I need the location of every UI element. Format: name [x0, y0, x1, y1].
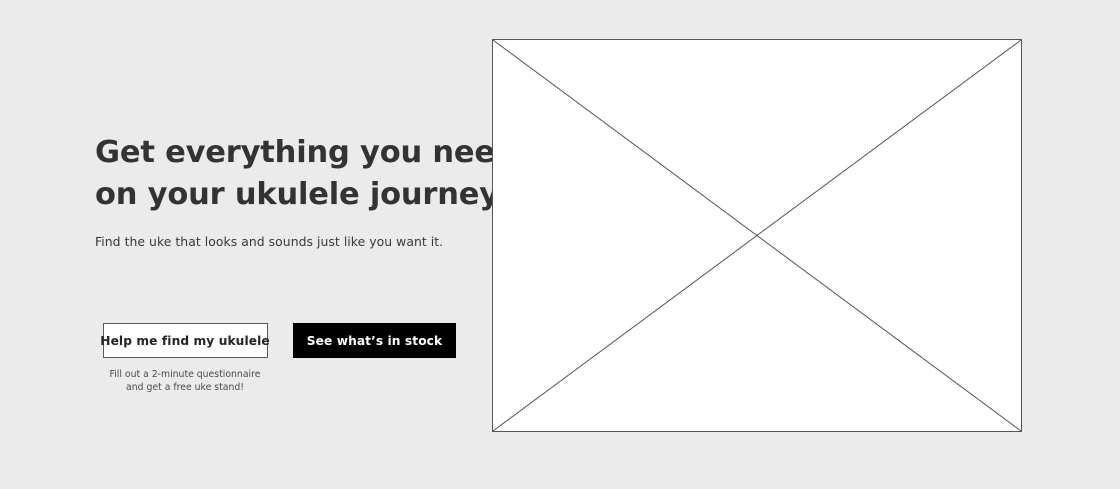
- headline-line-1: Get everything you need to get started: [95, 132, 495, 174]
- hero-section: Get everything you need to get started o…: [0, 0, 1120, 489]
- see-whats-in-stock-button[interactable]: See what’s in stock: [293, 323, 456, 358]
- secondary-cta-group: Help me find my ukulele Fill out a 2-min…: [95, 323, 275, 394]
- cta-helper-note-line-1: Fill out a 2-minute questionnaire: [95, 369, 275, 382]
- hero-image-placeholder: [492, 39, 1022, 432]
- hero-subheadline: Find the uke that looks and sounds just …: [95, 216, 495, 251]
- page-title: Get everything you need to get started o…: [95, 132, 495, 216]
- placeholder-cross-icon: [493, 40, 1021, 431]
- cta-button-row: Help me find my ukulele Fill out a 2-min…: [95, 323, 456, 394]
- primary-cta-group: See what’s in stock: [293, 323, 456, 358]
- headline-line-2: on your ukulele journey: [95, 174, 495, 216]
- hero-copy-block: Get everything you need to get started o…: [95, 132, 495, 251]
- cta-helper-note: Fill out a 2-minute questionnaire and ge…: [95, 358, 275, 394]
- help-me-find-my-ukulele-button[interactable]: Help me find my ukulele: [103, 323, 268, 358]
- cta-helper-note-line-2: and get a free uke stand!: [95, 382, 275, 395]
